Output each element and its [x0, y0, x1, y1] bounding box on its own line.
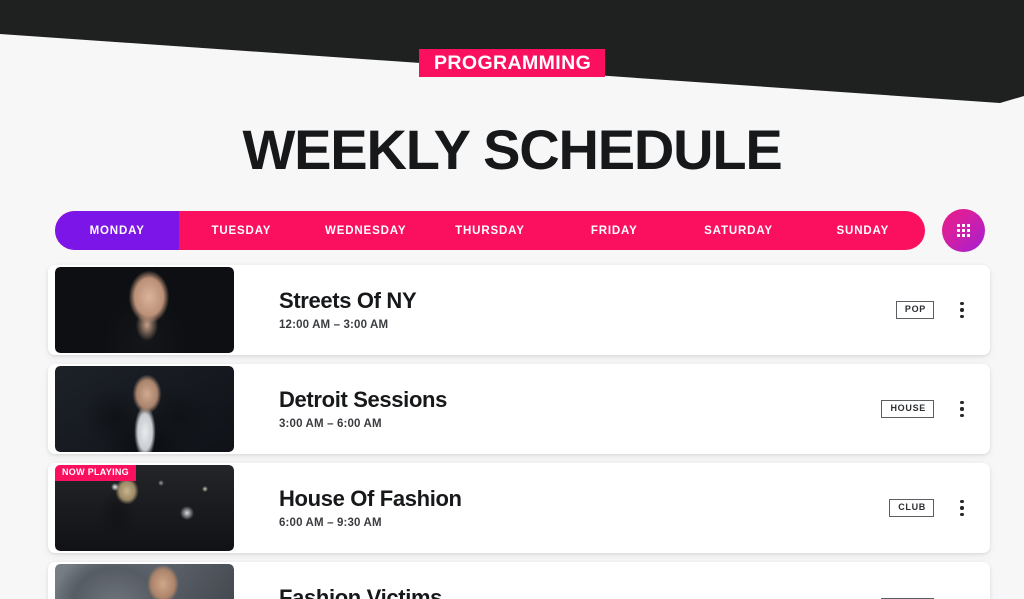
- row-menu-button[interactable]: [934, 364, 990, 454]
- show-time: 3:00 AM – 6:00 AM: [279, 418, 881, 430]
- now-playing-badge: NOW PLAYING: [55, 465, 136, 481]
- show-info: Fashion Victims 9:30 AM – 2:00 PM: [234, 586, 881, 599]
- show-title: Fashion Victims: [279, 586, 881, 599]
- more-vertical-icon-dot: [960, 513, 963, 516]
- schedule-row[interactable]: Fashion Victims 9:30 AM – 2:00 PM DANCE: [48, 562, 990, 599]
- schedule-row[interactable]: Detroit Sessions 3:00 AM – 6:00 AM HOUSE: [48, 364, 990, 454]
- show-info: Detroit Sessions 3:00 AM – 6:00 AM: [234, 388, 881, 429]
- genre-tag: CLUB: [889, 499, 934, 517]
- more-vertical-icon-dot: [960, 401, 963, 404]
- thumbnail-image: [55, 366, 234, 452]
- tab-label: THURSDAY: [455, 225, 525, 237]
- show-thumbnail[interactable]: [55, 366, 234, 452]
- tab-label: SATURDAY: [704, 225, 773, 237]
- tab-label: MONDAY: [90, 225, 145, 237]
- tab-monday[interactable]: MONDAY: [55, 211, 179, 250]
- row-menu-button[interactable]: [934, 562, 990, 599]
- show-title: Detroit Sessions: [279, 388, 881, 411]
- show-thumbnail[interactable]: [55, 267, 234, 353]
- tab-thursday[interactable]: THURSDAY: [428, 211, 552, 250]
- show-title: House Of Fashion: [279, 487, 889, 510]
- schedule-row[interactable]: NOW PLAYING House Of Fashion 6:00 AM – 9…: [48, 463, 990, 553]
- tab-label: FRIDAY: [591, 225, 638, 237]
- tab-label: SUNDAY: [837, 225, 890, 237]
- grid-dots-icon: [957, 224, 970, 237]
- show-thumbnail[interactable]: NOW PLAYING: [55, 465, 234, 551]
- show-time: 12:00 AM – 3:00 AM: [279, 319, 896, 331]
- more-vertical-icon-dot: [960, 500, 963, 503]
- show-info: House Of Fashion 6:00 AM – 9:30 AM: [234, 487, 889, 528]
- tab-saturday[interactable]: SATURDAY: [676, 211, 800, 250]
- genre-tag: POP: [896, 301, 934, 319]
- more-vertical-icon-dot: [960, 506, 963, 509]
- show-thumbnail[interactable]: [55, 564, 234, 599]
- tab-label: TUESDAY: [211, 225, 271, 237]
- more-vertical-icon-dot: [960, 414, 963, 417]
- schedule-list: Streets Of NY 12:00 AM – 3:00 AM POP Det…: [48, 265, 990, 599]
- tab-tuesday[interactable]: TUESDAY: [179, 211, 303, 250]
- tab-label: WEDNESDAY: [325, 225, 406, 237]
- row-menu-button[interactable]: [934, 265, 990, 355]
- more-vertical-icon-dot: [960, 315, 963, 318]
- more-vertical-icon-dot: [960, 308, 963, 311]
- page-title: WEEKLY SCHEDULE: [0, 119, 1024, 181]
- genre-tag: HOUSE: [881, 400, 934, 418]
- more-vertical-icon-dot: [960, 407, 963, 410]
- show-title: Streets Of NY: [279, 289, 896, 312]
- tab-friday[interactable]: FRIDAY: [552, 211, 676, 250]
- tab-sunday[interactable]: SUNDAY: [801, 211, 925, 250]
- programming-badge: PROGRAMMING: [419, 49, 605, 77]
- grid-view-button[interactable]: [942, 209, 985, 252]
- schedule-row[interactable]: Streets Of NY 12:00 AM – 3:00 AM POP: [48, 265, 990, 355]
- thumbnail-image: [55, 564, 234, 599]
- show-info: Streets Of NY 12:00 AM – 3:00 AM: [234, 289, 896, 330]
- show-time: 6:00 AM – 9:30 AM: [279, 517, 889, 529]
- thumbnail-image: [55, 267, 234, 353]
- row-menu-button[interactable]: [934, 463, 990, 553]
- day-tab-bar[interactable]: MONDAY TUESDAY WEDNESDAY THURSDAY FRIDAY…: [55, 211, 925, 250]
- tab-wednesday[interactable]: WEDNESDAY: [304, 211, 428, 250]
- more-vertical-icon-dot: [960, 302, 963, 305]
